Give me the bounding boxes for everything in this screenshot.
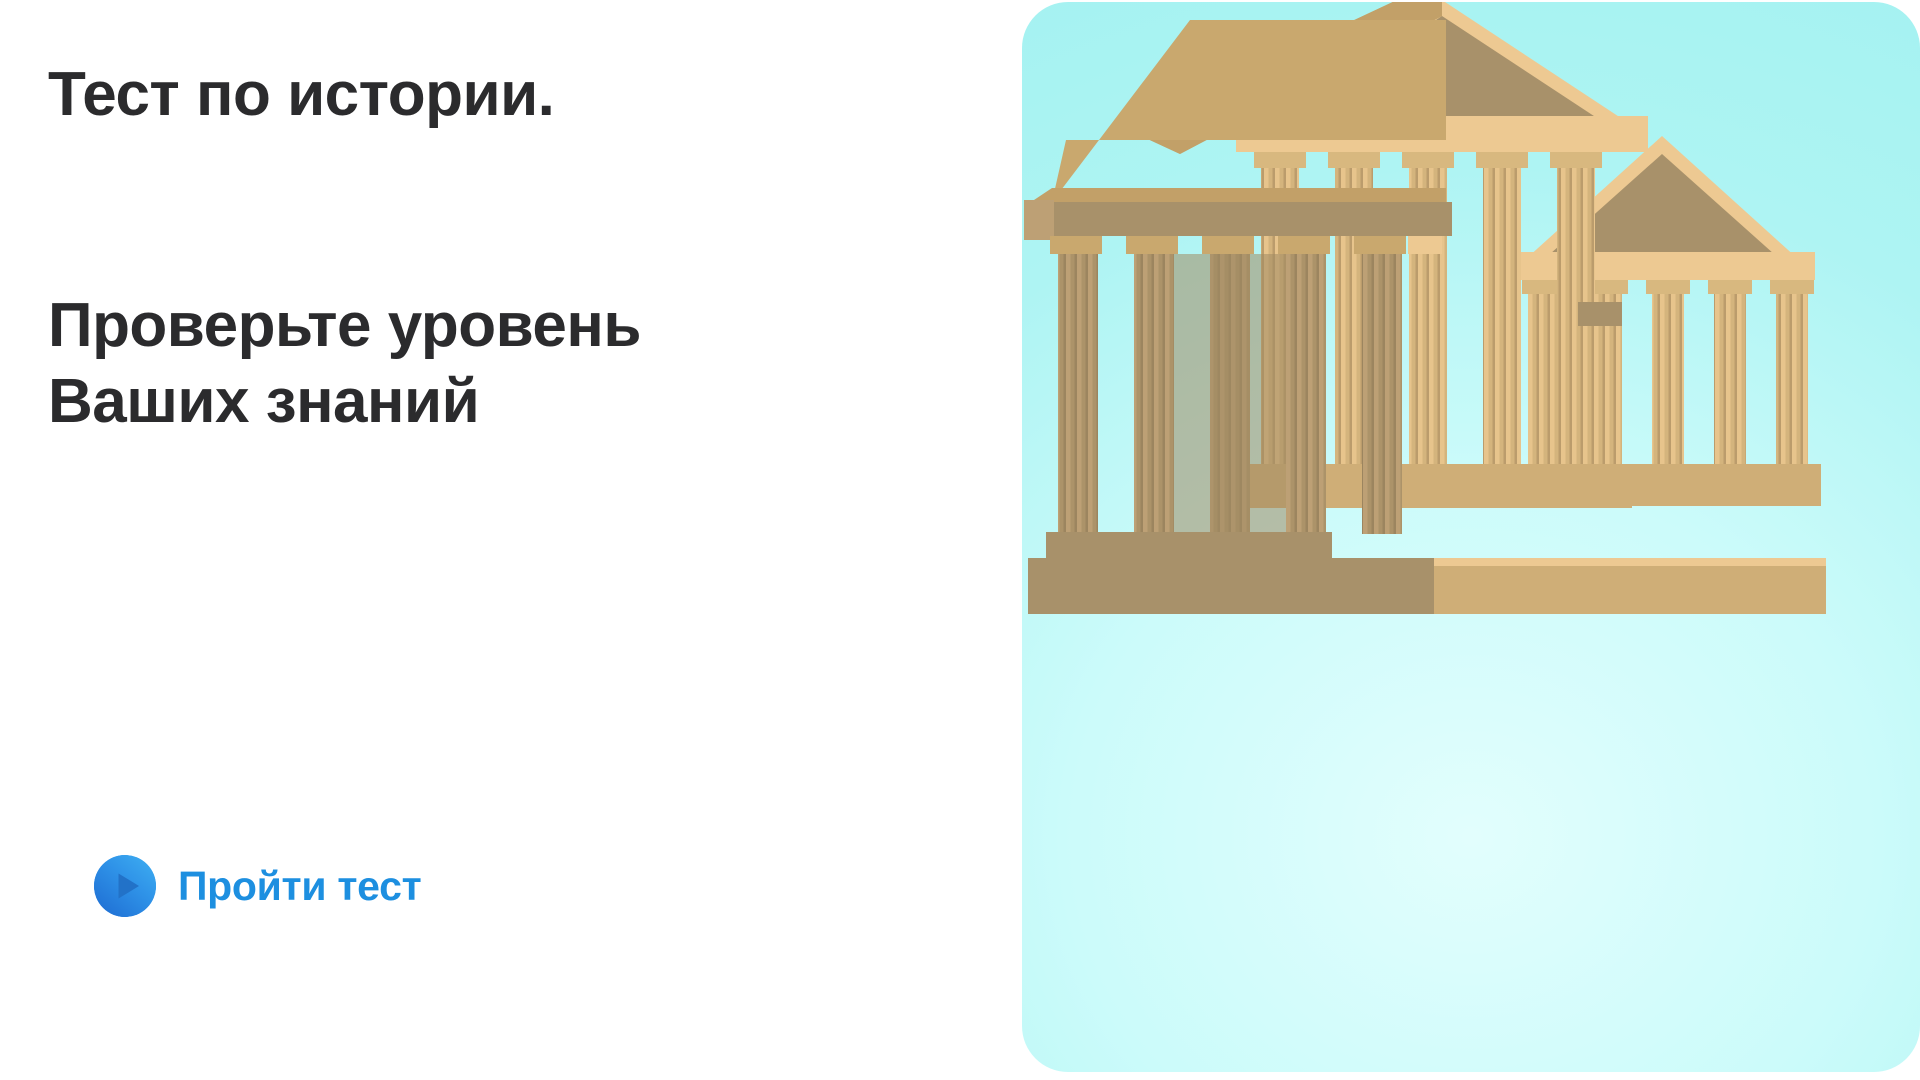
start-test-label: Пройти тест [178, 863, 421, 910]
small-temple [1503, 136, 1821, 506]
temple-base [1028, 558, 1826, 614]
slide-root: Тест по истории. Проверьте уровень Ваших… [0, 0, 1920, 1080]
play-icon[interactable] [94, 855, 156, 917]
subtitle-line-2: Ваших знаний [48, 364, 641, 440]
subtitle-line-1: Проверьте уровень [48, 288, 641, 364]
main-temple [1024, 2, 1452, 612]
start-test-button[interactable]: Пройти тест [94, 855, 421, 917]
greek-temple-illustration [1022, 2, 1920, 1072]
page-title: Тест по истории. [48, 58, 554, 131]
illustration-card [1022, 2, 1920, 1072]
subtitle: Проверьте уровень Ваших знаний [48, 288, 641, 439]
text-column: Тест по истории. Проверьте уровень Ваших… [48, 0, 968, 1080]
